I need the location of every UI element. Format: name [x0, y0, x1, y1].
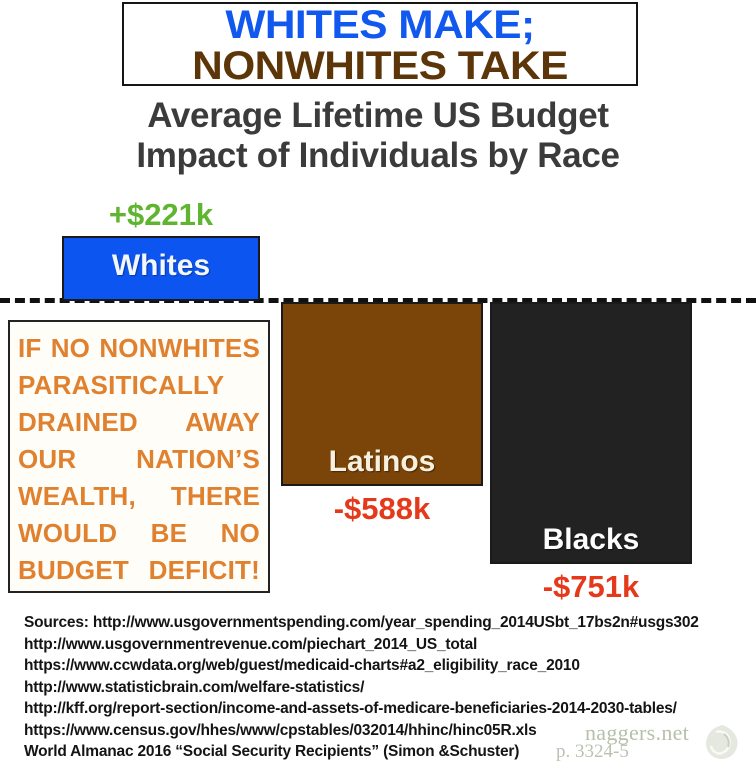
- callout-line-6: WOULD BE NO: [18, 515, 260, 552]
- headline-box: WHITES MAKE; NONWHITES TAKE: [122, 2, 638, 86]
- source-line-3: https://www.ccwdata.org/web/guest/medica…: [24, 655, 756, 677]
- callout-word-nations: NATION’S: [136, 441, 260, 478]
- value-label-whites: +$221k: [62, 198, 260, 231]
- chart-subtitle: Average Lifetime US Budget Impact of Ind…: [0, 96, 756, 176]
- headline-line-whites-make: WHITES MAKE;: [122, 5, 638, 46]
- source-line-7: World Almanac 2016 “Social Security Reci…: [24, 741, 756, 763]
- source-line-6: https://www.census.gov/hhes/www/cpstable…: [24, 720, 756, 742]
- callout-text-box: IF NO NONWHITES PARASITICALLY DRAINED AW…: [8, 320, 270, 593]
- callout-line-7: BUDGET DEFICIT!: [18, 552, 260, 589]
- callout-word-no: NO: [221, 515, 260, 552]
- callout-word-drained: DRAINED: [18, 404, 138, 441]
- callout-line-1: IF NO NONWHITES: [18, 330, 260, 367]
- callout-word-would: WOULD: [18, 515, 117, 552]
- bar-label-blacks: Blacks: [492, 524, 690, 556]
- source-line-2: http://www.usgovernmentrevenue.com/piech…: [24, 634, 756, 656]
- headline-line-nonwhites-take: NONWHITES TAKE: [122, 46, 638, 86]
- callout-word-away: AWAY: [185, 404, 260, 441]
- callout-word-be: BE: [151, 515, 188, 552]
- bar-latinos: Latinos: [281, 302, 483, 486]
- sources-block: Sources: http://www.usgovernmentspending…: [24, 612, 756, 763]
- source-line-1: Sources: http://www.usgovernmentspending…: [24, 612, 756, 634]
- callout-word-our: OUR: [18, 441, 76, 478]
- value-label-blacks: -$751k: [490, 570, 692, 603]
- callout-line-5: WEALTH, THERE: [18, 478, 260, 515]
- source-line-4: http://www.statisticbrain.com/welfare-st…: [24, 677, 756, 699]
- chart-subtitle-line-1: Average Lifetime US Budget: [0, 96, 756, 136]
- bar-whites: Whites: [62, 236, 260, 301]
- value-label-latinos: -$588k: [281, 492, 483, 525]
- callout-word-there: THERE: [171, 478, 260, 515]
- chart-subtitle-line-2: Impact of Individuals by Race: [0, 136, 756, 176]
- source-line-5: http://kff.org/report-section/income-and…: [24, 698, 756, 720]
- bar-blacks: Blacks: [490, 302, 692, 564]
- callout-line-4: OUR NATION’S: [18, 441, 260, 478]
- callout-line-3: DRAINED AWAY: [18, 404, 260, 441]
- callout-line-2: PARASITICALLY: [18, 367, 260, 404]
- bar-label-whites: Whites: [64, 250, 258, 282]
- bar-label-latinos: Latinos: [283, 446, 481, 478]
- callout-word-wealth: WEALTH,: [18, 478, 136, 515]
